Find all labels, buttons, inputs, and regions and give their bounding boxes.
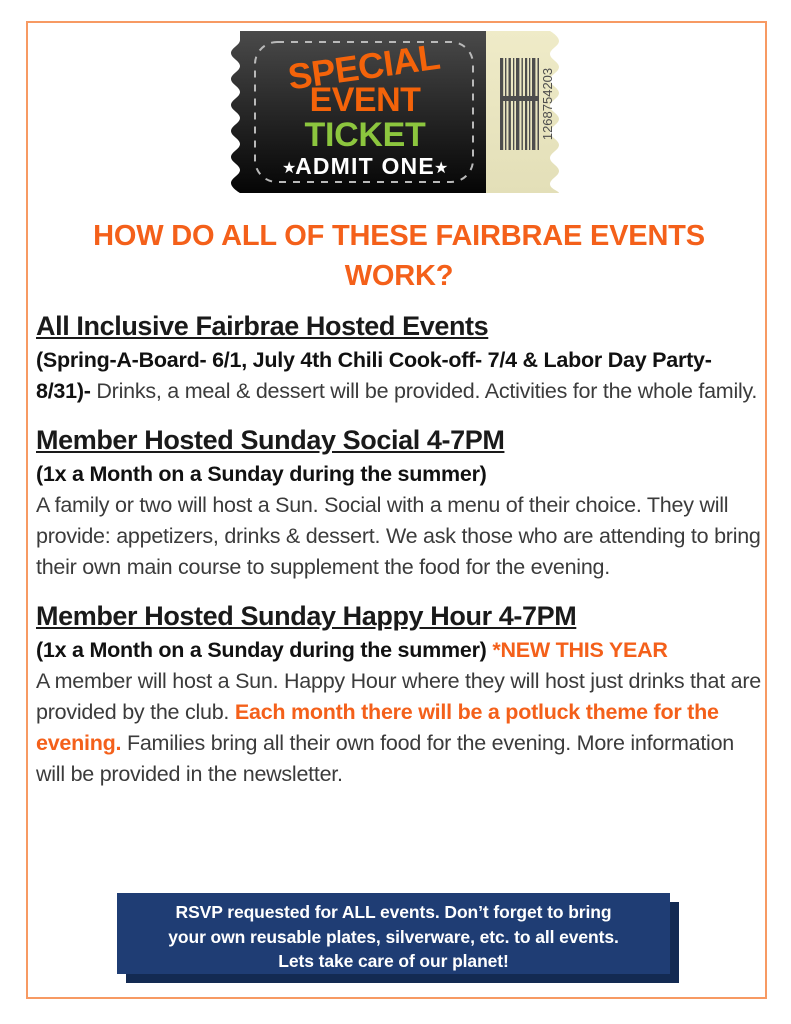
special-event-ticket-graphic: 1268754203 SPECIAL EVENT TICKET ★ ADMIT … [219,31,571,193]
section-sunday-social: Member Hosted Sunday Social 4-7PM (1x a … [36,423,762,583]
section-body-text-part2: Families bring all their own food for th… [36,731,734,786]
section-body: (1x a Month on a Sunday during the summe… [36,459,762,583]
flyer-page: 1268754203 SPECIAL EVENT TICKET ★ ADMIT … [0,0,791,1024]
ticket-barcode-number: 1268754203 [540,68,555,140]
rsvp-callout: RSVP requested for ALL events. Don’t for… [117,893,679,983]
ticket-star-right-icon: ★ [434,158,448,177]
ticket-svg: 1268754203 SPECIAL EVENT TICKET ★ ADMIT … [219,31,571,193]
section-title: Member Hosted Sunday Social 4-7PM [36,423,762,457]
page-title: HOW DO ALL OF THESE FAIRBRAE EVENTS WORK… [36,210,762,296]
status-badge-new-this-year: *NEW THIS YEAR [492,638,667,662]
section-body-text: Drinks, a meal & dessert will be provide… [91,379,757,403]
callout-line-2: your own reusable plates, silverware, et… [135,925,652,950]
ticket-line-event: EVENT [310,81,422,119]
ticket-line-admit-one: ADMIT ONE [295,153,435,179]
section-title: All Inclusive Fairbrae Hosted Events [36,309,762,343]
callout-line-3: Lets take care of our planet! [135,949,652,974]
section-subtitle: (1x a Month on a Sunday during the summe… [36,459,762,490]
flyer-content: HOW DO ALL OF THESE FAIRBRAE EVENTS WORK… [36,210,762,790]
section-subtitle-row: (1x a Month on a Sunday during the summe… [36,635,762,666]
section-body-text: A family or two will host a Sun. Social … [36,493,761,579]
section-body: (Spring-A-Board- 6/1, July 4th Chili Coo… [36,345,762,407]
section-subtitle: (1x a Month on a Sunday during the summe… [36,638,487,662]
ticket-line-ticket: TICKET [305,116,427,154]
section-title: Member Hosted Sunday Happy Hour 4-7PM [36,599,762,633]
section-all-inclusive: All Inclusive Fairbrae Hosted Events (Sp… [36,309,762,407]
callout-line-1: RSVP requested for ALL events. Don’t for… [135,900,652,925]
callout-box: RSVP requested for ALL events. Don’t for… [117,893,670,974]
section-body: (1x a Month on a Sunday during the summe… [36,635,762,790]
section-sunday-happy-hour: Member Hosted Sunday Happy Hour 4-7PM (1… [36,599,762,790]
